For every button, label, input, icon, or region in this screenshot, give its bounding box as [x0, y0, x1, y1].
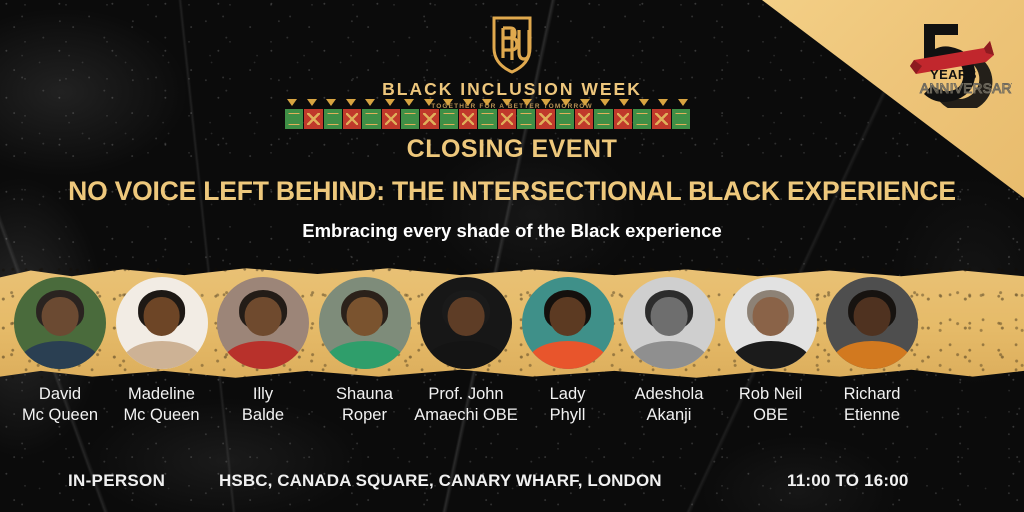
speaker-portrait [319, 277, 411, 369]
kente-square-red [536, 109, 554, 129]
speaker-avatar [116, 277, 208, 369]
speaker-avatar [826, 277, 918, 369]
kente-triangle-icon [619, 99, 629, 106]
portrait-face [854, 297, 891, 336]
kente-square-red [575, 109, 593, 129]
kente-triangle-icon [365, 99, 375, 106]
kente-square-green [633, 109, 651, 129]
speaker-photo-row [0, 266, 1024, 380]
kente-triangle-icon [502, 99, 512, 106]
footer-bar: IN-PERSON HSBC, CANADA SQUARE, CANARY WH… [0, 450, 1024, 512]
speaker-name-line2: Etienne [812, 405, 932, 426]
speaker-portrait [116, 277, 208, 369]
speaker-avatar [319, 277, 411, 369]
event-time: 11:00 TO 16:00 [787, 471, 909, 491]
kente-square-green [672, 109, 690, 129]
portrait-face [245, 297, 282, 336]
speaker-avatar [217, 277, 309, 369]
speaker-portrait [14, 277, 106, 369]
kente-triangle-icon [678, 99, 688, 106]
kente-square-green [285, 109, 303, 129]
speaker-name-line1: Richard [812, 384, 932, 405]
speaker-avatar [14, 277, 106, 369]
kente-triangle-icon [580, 99, 590, 106]
speaker-portrait [420, 277, 512, 369]
portrait-face [42, 297, 79, 336]
headline-block: CLOSING EVENT NO VOICE LEFT BEHIND: THE … [0, 135, 1024, 242]
speaker-portrait [522, 277, 614, 369]
portrait-face [448, 297, 485, 336]
speaker-avatar [420, 277, 512, 369]
kente-square-row [285, 109, 690, 129]
kente-triangle-icon [385, 99, 395, 106]
kente-triangle-icon [404, 99, 414, 106]
speaker-portrait [826, 277, 918, 369]
kente-square-green [401, 109, 419, 129]
speaker-portrait [725, 277, 817, 369]
kente-square-red [420, 109, 438, 129]
kente-triangle-icon [639, 99, 649, 106]
kente-square-green [594, 109, 612, 129]
kente-square-red [459, 109, 477, 129]
page-title: NO VOICE LEFT BEHIND: THE INTERSECTIONAL… [0, 176, 1024, 207]
kente-square-green [478, 109, 496, 129]
speaker-portrait [623, 277, 715, 369]
kente-square-red [304, 109, 322, 129]
kente-square-green [440, 109, 458, 129]
event-mode: IN-PERSON [68, 471, 165, 491]
biw-shield-monogram-icon [482, 14, 542, 74]
speaker-portrait [217, 277, 309, 369]
kente-triangle-icon [346, 99, 356, 106]
kente-square-red [382, 109, 400, 129]
kente-square-green [362, 109, 380, 129]
kente-triangle-icon [561, 99, 571, 106]
kente-triangle-icon [307, 99, 317, 106]
event-venue: HSBC, CANADA SQUARE, CANARY WHARF, LONDO… [219, 471, 662, 491]
kente-triangle-row [285, 99, 690, 106]
kente-triangle-icon [326, 99, 336, 106]
kente-square-red [498, 109, 516, 129]
kente-square-red [614, 109, 632, 129]
kente-triangle-icon [658, 99, 668, 106]
kente-square-green [556, 109, 574, 129]
kente-square-red [652, 109, 670, 129]
speaker-avatar [725, 277, 817, 369]
kente-triangle-icon [463, 99, 473, 106]
speaker-avatar [522, 277, 614, 369]
kente-triangle-icon [287, 99, 297, 106]
kente-square-red [343, 109, 361, 129]
kente-triangle-icon [482, 99, 492, 106]
kente-pattern-band [285, 99, 690, 129]
portrait-face [143, 297, 180, 336]
kente-square-green [517, 109, 535, 129]
kente-triangle-icon [424, 99, 434, 106]
portrait-face [651, 297, 688, 336]
brand-logo-lockup: BLACK INCLUSION WEEK TOGETHER FOR A BETT… [0, 14, 1024, 110]
speaker-name-row: DavidMc QueenMadelineMc QueenIllyBaldeSh… [0, 384, 1024, 446]
speaker-avatar [623, 277, 715, 369]
portrait-face [549, 297, 586, 336]
brand-name: BLACK INCLUSION WEEK [382, 79, 642, 100]
kente-triangle-icon [541, 99, 551, 106]
kente-triangle-icon [600, 99, 610, 106]
kente-triangle-icon [443, 99, 453, 106]
speaker-name: RichardEtienne [812, 384, 932, 426]
event-subtitle: Embracing every shade of the Black exper… [0, 220, 1024, 242]
event-kicker: CLOSING EVENT [0, 135, 1024, 164]
portrait-face [752, 297, 789, 336]
kente-square-green [324, 109, 342, 129]
portrait-face [346, 297, 383, 336]
event-poster: YEARS ANNIVERSARY BLACK INCLUSION WEEK T… [0, 0, 1024, 512]
kente-triangle-icon [522, 99, 532, 106]
